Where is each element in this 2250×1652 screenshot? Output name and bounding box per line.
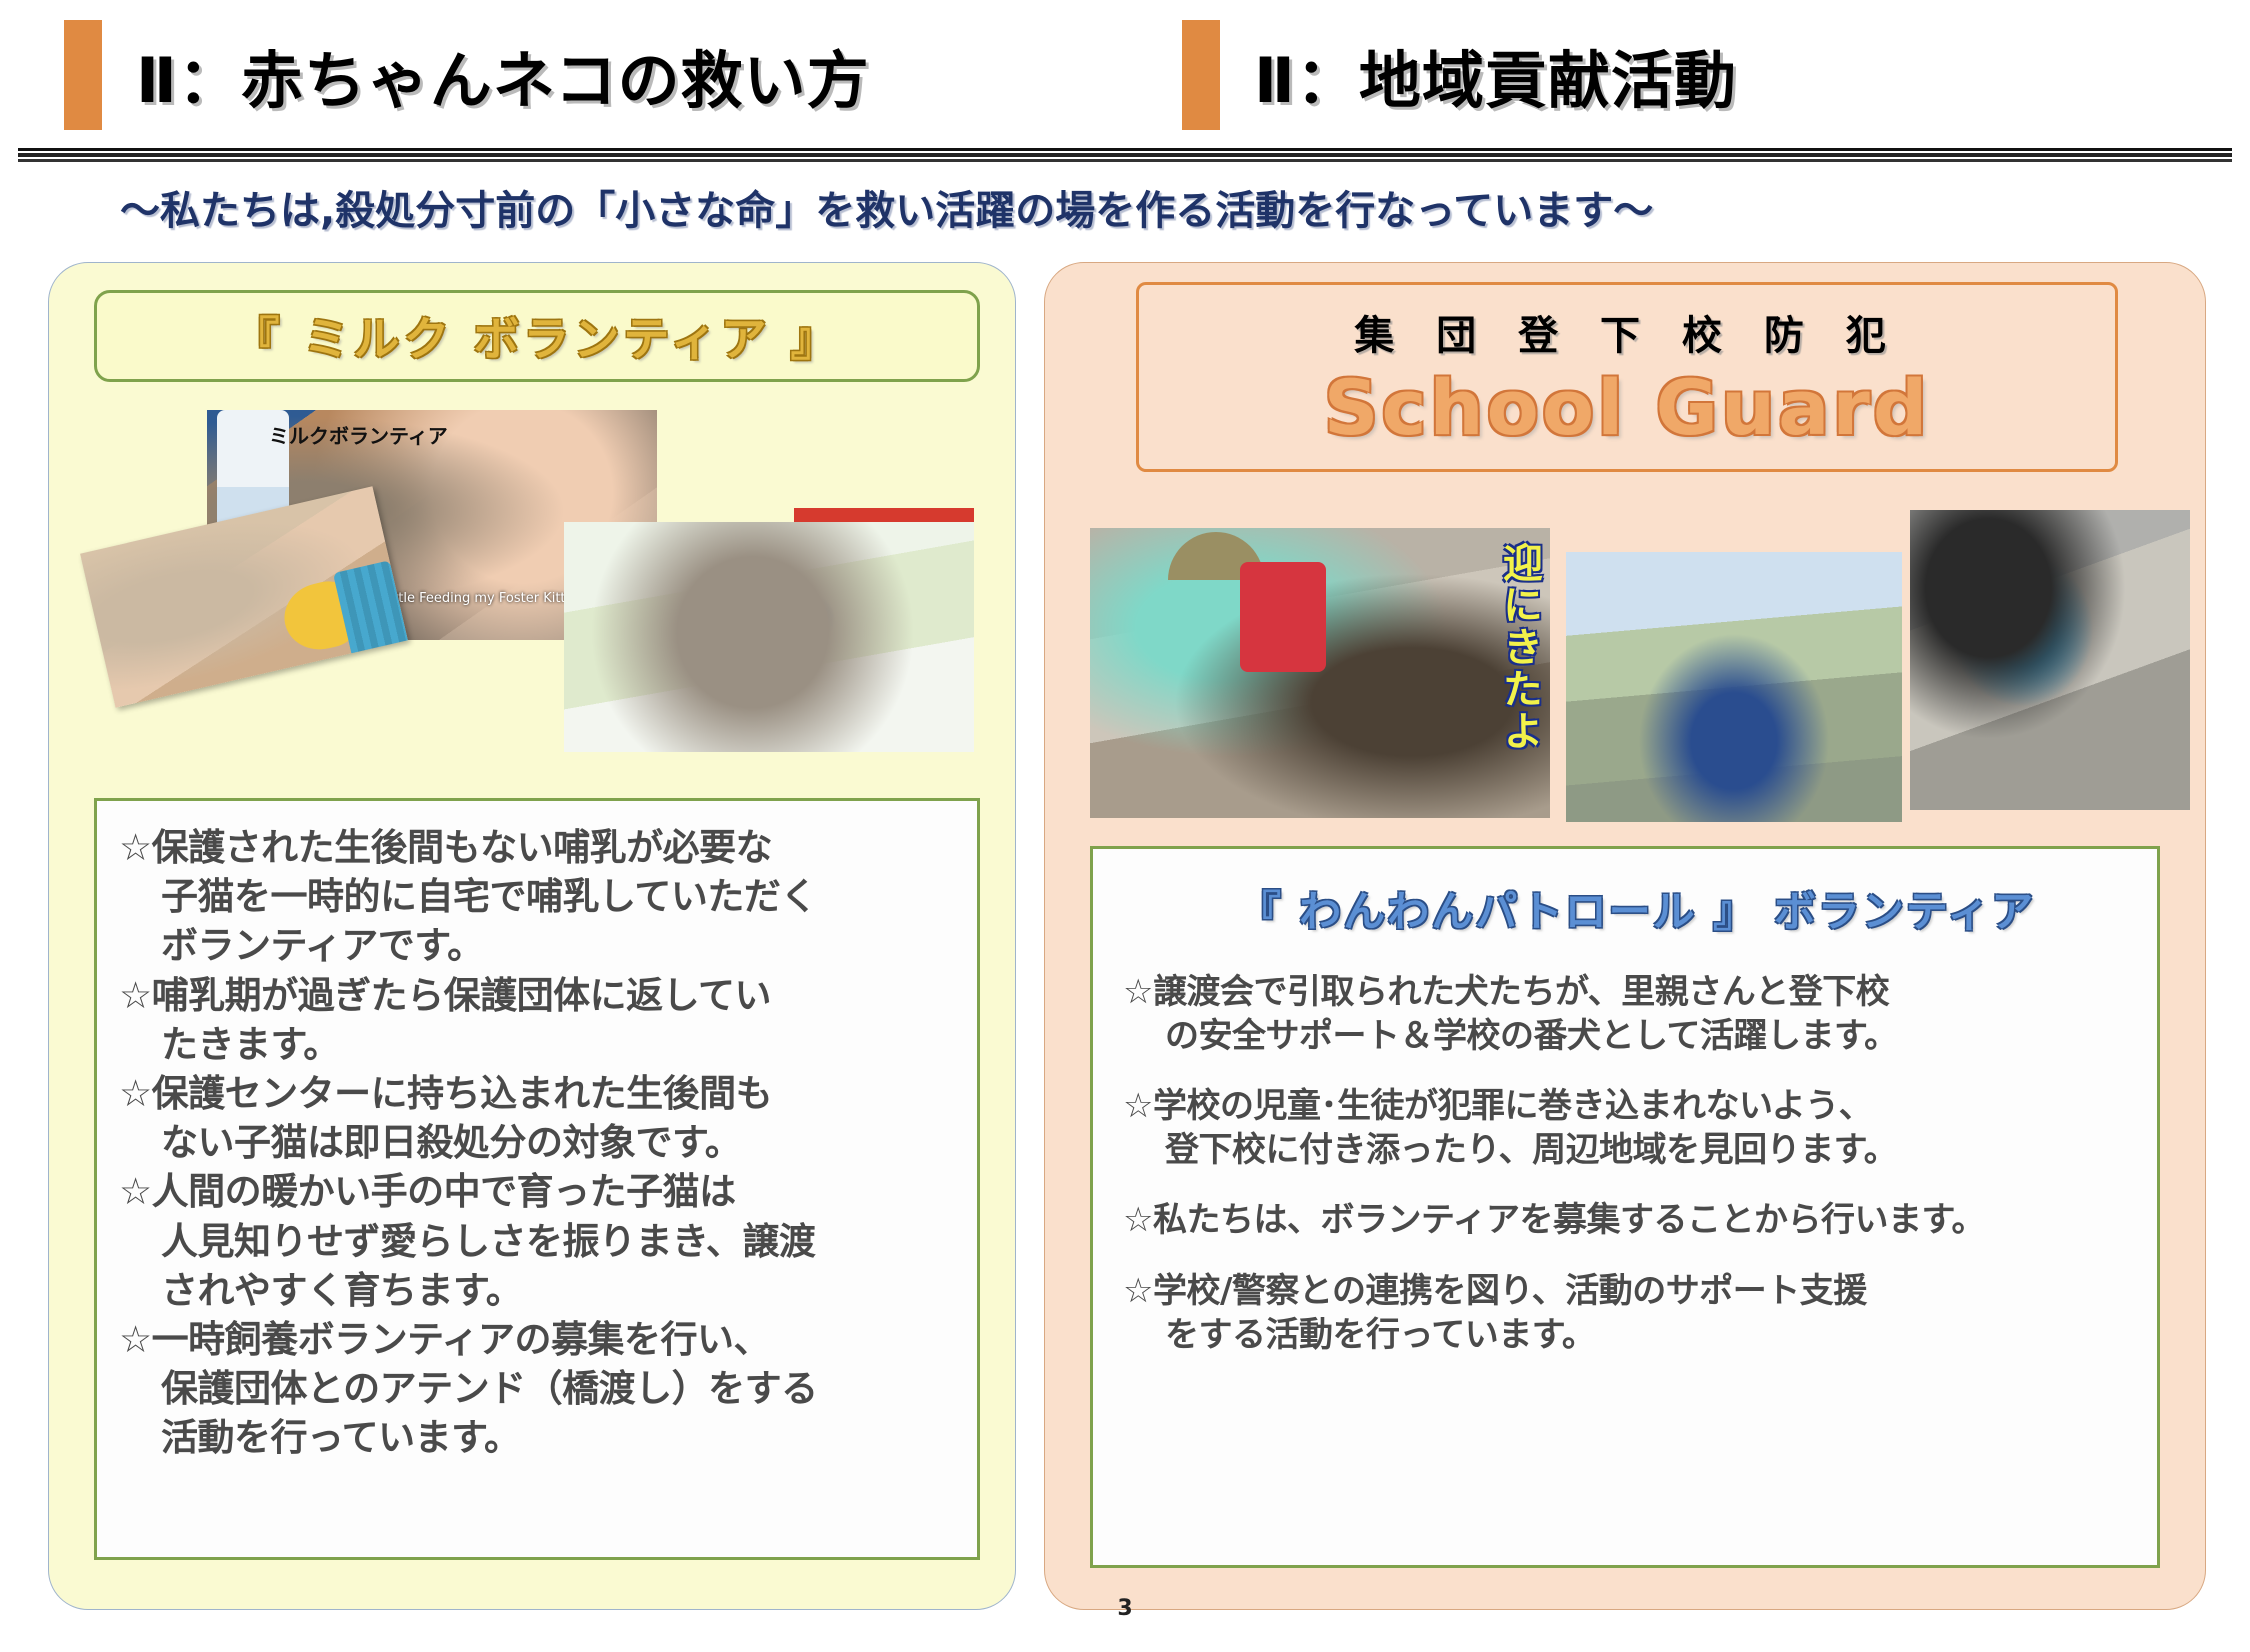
right-bullet-line: の安全サポート＆学校の番犬として活躍します。 <box>1123 1014 2151 1058</box>
right-bullet-line: ☆譲渡会で引取られた犬たちが、里親さんと登下校 <box>1123 970 2151 1014</box>
patrol-dogs-photo <box>1910 510 2190 810</box>
left-bullet-line: 人見知りせず愛らしさを振りまき、譲渡 <box>119 1217 971 1266</box>
accent-bar-icon <box>1182 20 1220 130</box>
school-guard-jp-label: 集 団 登 下 校 防 犯 <box>1354 303 1900 361</box>
left-photo-collage: ミルクボランティア ©Bottle Feeding my Foster Kitt… <box>94 400 974 790</box>
left-bullet-line: ☆保護された生後間もない哺乳が必要な <box>119 823 971 872</box>
right-bullet-list: 『 わんわんパトロール 』 ボランティア ☆譲渡会で引取られた犬たちが、里親さん… <box>1093 849 2157 1357</box>
students-walking-photo <box>1566 552 1902 822</box>
left-bullet-line: ボランティアです。 <box>119 921 971 970</box>
header-title-left: Ⅱ：赤ちゃんネコの救い方 <box>136 30 870 120</box>
bullet-spacer <box>1123 1243 2151 1269</box>
left-bullet-line: 保護団体とのアテンド（橋渡し）をする <box>119 1364 971 1413</box>
right-bullet-line: をする活動を行っています。 <box>1123 1313 2151 1357</box>
left-bullet-line: ☆人間の暖かい手の中で育った子猫は <box>119 1167 971 1216</box>
left-bullet-line: 活動を行っています。 <box>119 1413 971 1462</box>
blue-eyed-kitten-photo <box>564 522 974 752</box>
left-bullet-line: 子猫を一時的に自宅で哺乳していただく <box>119 872 971 921</box>
page-number: 3 <box>0 1596 2250 1621</box>
slide-subtitle: 〜私たちは,殺処分寸前の「小さな命」を救い活躍の場を作る活動を行なっています〜 <box>120 178 2120 236</box>
girl-with-dog-photo: 迎にきたよ <box>1090 528 1550 818</box>
right-bullet-line: ☆私たちは、ボランティアを募集することから行います。 <box>1123 1198 2151 1242</box>
left-bullet-list: ☆保護された生後間もない哺乳が必要な子猫を一時的に自宅で哺乳していただくボランテ… <box>97 801 977 1463</box>
left-bullet-line: ☆保護センターに持ち込まれた生後間も <box>119 1069 971 1118</box>
bullet-spacer <box>1123 1172 2151 1198</box>
right-bullet-lines: ☆譲渡会で引取られた犬たちが、里親さんと登下校の安全サポート＆学校の番犬として活… <box>1123 970 2151 1357</box>
photo-overlay-vertical-text: 迎にきたよ <box>1480 542 1540 752</box>
header-title-right: Ⅱ：地域貢献活動 <box>1254 30 1737 120</box>
bullet-spacer <box>1123 1058 2151 1084</box>
right-bullet-line: ☆学校/警察との連携を図り、活動のサポート支援 <box>1123 1269 2151 1313</box>
right-text-box: 『 わんわんパトロール 』 ボランティア ☆譲渡会で引取られた犬たちが、里親さん… <box>1090 846 2160 1568</box>
school-guard-en-label: School Guard <box>1324 363 1930 452</box>
milk-volunteer-title-box: 『 ミルク ボランティア 』 <box>94 290 980 382</box>
left-text-box: ☆保護された生後間もない哺乳が必要な子猫を一時的に自宅で哺乳していただくボランテ… <box>94 798 980 1560</box>
left-bullet-line: たきます。 <box>119 1020 971 1069</box>
milk-photo-label: ミルクボランティア <box>269 420 448 449</box>
wanwan-patrol-title: 『 わんわんパトロール 』 ボランティア <box>1123 885 2151 940</box>
left-bullet-line: ない子猫は即日殺処分の対象です。 <box>119 1118 971 1167</box>
randoseru-backpack-shape <box>1240 562 1326 672</box>
right-bullet-line: ☆学校の児童･生徒が犯罪に巻き込まれないよう、 <box>1123 1084 2151 1128</box>
header-divider-rule <box>18 148 2232 164</box>
kitten-nursing-photo <box>80 486 408 707</box>
right-photo-collage: 迎にきたよ <box>1090 510 2190 830</box>
slide-header: Ⅱ：赤ちゃんネコの救い方 Ⅱ：地域貢献活動 <box>0 0 2250 160</box>
milk-volunteer-title: 『 ミルク ボランティア 』 <box>233 303 840 369</box>
left-bullet-line: されやすく育ちます。 <box>119 1266 971 1315</box>
header-section-left: Ⅱ：赤ちゃんネコの救い方 <box>64 20 870 130</box>
right-bullet-line: 登下校に付き添ったり、周辺地域を見回ります。 <box>1123 1128 2151 1172</box>
header-section-right: Ⅱ：地域貢献活動 <box>1182 20 1737 130</box>
accent-bar-icon <box>64 20 102 130</box>
left-bullet-line: ☆哺乳期が過ぎたら保護団体に返してい <box>119 971 971 1020</box>
school-guard-badge: 集 団 登 下 校 防 犯 School Guard <box>1136 282 2118 472</box>
left-bullet-line: ☆一時飼養ボランティアの募集を行い、 <box>119 1315 971 1364</box>
